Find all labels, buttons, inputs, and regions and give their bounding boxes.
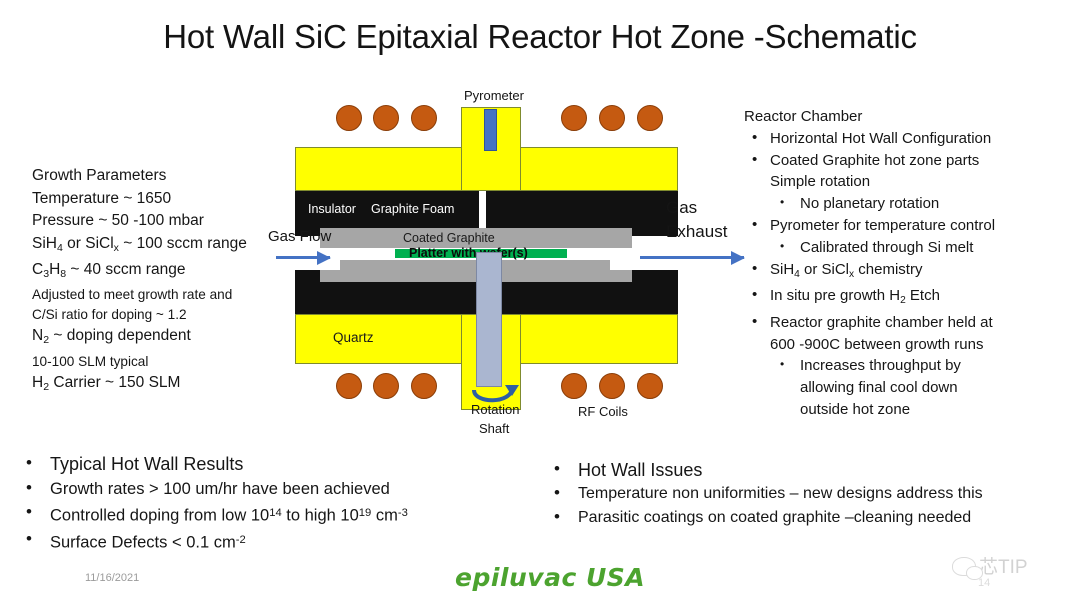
rotation-shaft-label-line1: Rotation [471, 402, 519, 417]
rf-coil-top-6 [637, 105, 663, 131]
chamber-bullet-calibrated: Calibrated through Si melt [744, 237, 1074, 259]
issues-temperature-nonuniformity: Temperature non uniformities – new desig… [548, 482, 1078, 506]
or-sicl-text: or SiCl [63, 235, 114, 252]
param-slm-typical: 10-100 SLM typical [32, 352, 294, 372]
defects-prefix-text: Surface Defects < 0.1 cm [50, 534, 236, 552]
gas-flow-label: Gas Flow [268, 228, 331, 245]
chem-sih4-text: SiH [770, 261, 794, 278]
gas-exhaust-label-line2: Exhaust [666, 222, 727, 242]
rf-coil-bottom-5 [599, 373, 625, 399]
growth-parameters-heading: Growth Parameters [32, 165, 294, 188]
gas-flow-arrow-icon [276, 256, 330, 259]
quartz-upper-right-arm [520, 147, 678, 191]
doping-cm-exp: -3 [398, 507, 408, 519]
n-text: N [32, 327, 43, 344]
platter-label: Platter with wafer(s) [409, 246, 528, 260]
rf-coil-bottom-4 [561, 373, 587, 399]
chem-or-sicl-text: or SiCl [800, 261, 849, 278]
quartz-upper-left-arm [295, 147, 462, 191]
epiluvac-logo: epiluvac USA [455, 563, 645, 592]
chamber-bullet-horizontal: Horizontal Hot Wall Configuration [744, 128, 1074, 150]
rotation-shaft-label-line2: Shaft [479, 421, 509, 436]
watermark-row: 芯TIP [952, 552, 1072, 579]
watermark: 芯TIP 14 [952, 552, 1072, 589]
rf-coil-top-5 [599, 105, 625, 131]
h-text: H [49, 261, 60, 278]
date-stamp: 11/16/2021 [85, 572, 139, 584]
coated-graphite-label: Coated Graphite [403, 231, 495, 245]
chamber-bullet-cool-down: allowing final cool down [744, 377, 1074, 399]
sccm-range-text: ~ 100 sccm range [119, 235, 247, 252]
param-adjusted-note: Adjusted to meet growth rate and [32, 285, 294, 305]
page-title: Hot Wall SiC Epitaxial Reactor Hot Zone … [0, 18, 1080, 56]
issues-parasitic-coatings: Parasitic coatings on coated graphite –c… [548, 506, 1078, 530]
watermark-text: 芯TIP [979, 557, 1028, 578]
platter-bar [340, 260, 610, 270]
n2-doping-text: ~ doping dependent [49, 327, 191, 344]
chamber-bullet-graphite-held: Reactor graphite chamber held at [744, 312, 1074, 334]
doping-low-exp: 14 [269, 507, 281, 519]
rf-coil-top-3 [411, 105, 437, 131]
quartz-label: Quartz [333, 330, 374, 345]
reactor-chamber-block: Reactor Chamber Horizontal Hot Wall Conf… [744, 106, 1074, 421]
results-controlled-doping: Controlled doping from low 1014 to high … [20, 501, 540, 528]
chamber-bullet-simple-rotation: Simple rotation [744, 171, 1074, 193]
doping-prefix-text: Controlled doping from low 10 [50, 507, 269, 525]
param-temperature: Temperature ~ 1650 [32, 188, 294, 211]
graphite-foam-label: Graphite Foam [371, 202, 454, 216]
chamber-bullet-throughput: Increases throughput by [744, 355, 1074, 377]
gas-exhaust-label-line1: Gas [666, 198, 697, 218]
h2-text: H [32, 374, 43, 391]
chamber-bullet-outside-hot-zone: outside hot zone [744, 399, 1074, 421]
h2-carrier-text: Carrier ~ 150 SLM [49, 374, 180, 391]
param-h2-carrier: H2 Carrier ~ 150 SLM [32, 372, 294, 398]
param-silicon-source: SiH4 or SiClx ~ 100 sccm range [32, 233, 294, 259]
wechat-icon [952, 557, 976, 576]
hot-wall-issues-block: Hot Wall Issues Temperature non uniformi… [548, 458, 1078, 530]
doping-cm-text: cm [371, 507, 398, 525]
rf-coil-bottom-1 [336, 373, 362, 399]
etch-prefix-text: In situ pre growth H [770, 287, 900, 304]
param-nitrogen: N2 ~ doping dependent [32, 325, 294, 351]
reactor-chamber-heading: Reactor Chamber [744, 106, 1074, 128]
c3h8-range-text: ~ 40 sccm range [66, 261, 185, 278]
quartz-lower-left-arm [295, 314, 462, 364]
rf-coil-bottom-6 [637, 373, 663, 399]
chamber-bullet-no-planetary: No planetary rotation [744, 193, 1074, 215]
quartz-lower-right-arm [520, 314, 678, 364]
issues-heading: Hot Wall Issues [548, 458, 1078, 482]
rf-coil-top-1 [336, 105, 362, 131]
results-growth-rates: Growth rates > 100 um/hr have been achie… [20, 477, 540, 502]
chem-suffix-text: chemistry [854, 261, 922, 278]
chamber-bullet-temperature-range: 600 -900C between growth runs [744, 334, 1074, 356]
doping-mid-text: to high 10 [282, 507, 359, 525]
rf-coils-label: RF Coils [578, 404, 628, 419]
rotation-shaft [476, 252, 502, 387]
chamber-bullet-h2-etch: In situ pre growth H2 Etch [744, 285, 1074, 312]
gas-exhaust-arrow-icon [640, 256, 744, 259]
param-carbon-source: C3H8 ~ 40 sccm range [32, 259, 294, 285]
rf-coil-top-4 [561, 105, 587, 131]
pyrometer-probe [484, 109, 497, 151]
etch-suffix-text: Etch [906, 287, 940, 304]
slide: Hot Wall SiC Epitaxial Reactor Hot Zone … [0, 0, 1080, 608]
rf-coil-top-2 [373, 105, 399, 131]
typical-results-block: Typical Hot Wall Results Growth rates > … [20, 452, 540, 555]
doping-high-exp: 19 [359, 507, 371, 519]
defects-exp: -2 [236, 534, 246, 546]
param-csi-ratio: C/Si ratio for doping ~ 1.2 [32, 305, 294, 325]
growth-parameters-block: Growth Parameters Temperature ~ 1650 Pre… [32, 165, 294, 398]
rf-coil-bottom-3 [411, 373, 437, 399]
sih4-text: SiH [32, 235, 57, 252]
chamber-bullet-chemistry: SiH4 or SiClx chemistry [744, 259, 1074, 286]
rf-coil-bottom-2 [373, 373, 399, 399]
c-text: C [32, 261, 43, 278]
chamber-bullet-coated-graphite: Coated Graphite hot zone parts [744, 150, 1074, 172]
results-heading: Typical Hot Wall Results [20, 452, 540, 477]
results-surface-defects: Surface Defects < 0.1 cm-2 [20, 528, 540, 555]
param-pressure: Pressure ~ 50 -100 mbar [32, 210, 294, 233]
chamber-bullet-pyrometer: Pyrometer for temperature control [744, 215, 1074, 237]
reactor-schematic-diagram: Pyrometer Insulator Graphite Foam Coated… [268, 88, 768, 438]
insulator-label: Insulator [308, 202, 356, 216]
pyrometer-label: Pyrometer [464, 88, 524, 103]
